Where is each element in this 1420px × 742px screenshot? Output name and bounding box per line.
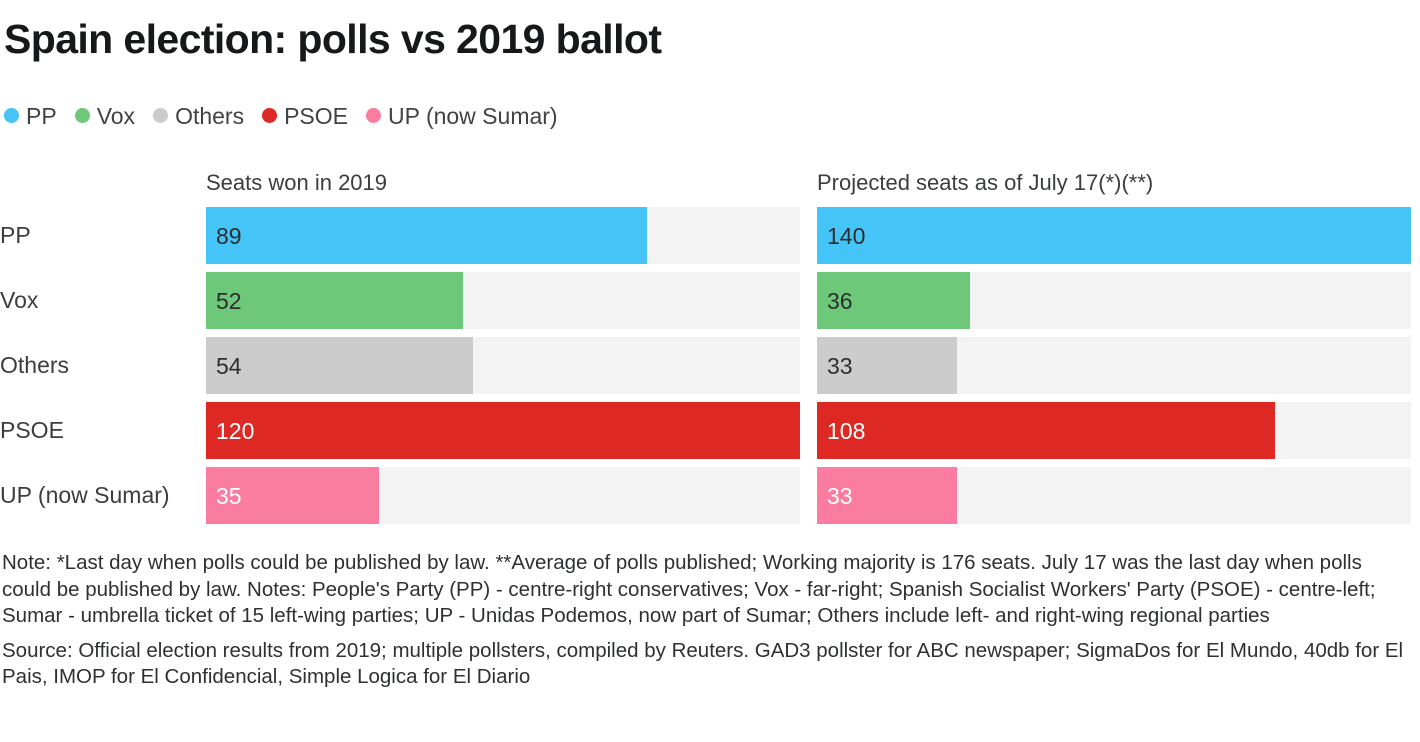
legend-item-vox[interactable]: Vox — [75, 104, 135, 127]
legend-item-psoe[interactable]: PSOE — [262, 104, 348, 127]
bar-segment[interactable]: 33 — [817, 337, 957, 394]
bar-track-right: 140 — [817, 207, 1411, 264]
bar-track-right: 33 — [817, 467, 1411, 524]
bar-track-left: 120 — [206, 402, 800, 459]
bar-segment[interactable]: 35 — [206, 467, 379, 524]
page-title: Spain election: polls vs 2019 ballot — [4, 16, 661, 63]
chart-legend: PP Vox Others PSOE UP (now Sumar) — [4, 104, 558, 127]
legend-label: PSOE — [284, 105, 348, 128]
bar-segment[interactable]: 108 — [817, 402, 1275, 459]
bar-track-right: 36 — [817, 272, 1411, 329]
bar-row: UP (now Sumar)3533 — [0, 467, 1420, 524]
bar-row: Vox5236 — [0, 272, 1420, 329]
chart-source: Source: Official election results from 2… — [2, 638, 1414, 691]
bar-segment[interactable]: 36 — [817, 272, 970, 329]
bar-track-left: 35 — [206, 467, 800, 524]
bar-chart: Seats won in 2019 Projected seats as of … — [0, 160, 1420, 530]
bar-track-left: 89 — [206, 207, 800, 264]
bar-segment[interactable]: 140 — [817, 207, 1411, 264]
panel-header-2019: Seats won in 2019 — [206, 170, 387, 196]
bar-value-label: 54 — [206, 355, 242, 378]
bar-track-right: 33 — [817, 337, 1411, 394]
bar-value-label: 140 — [817, 225, 865, 248]
category-label: PSOE — [0, 402, 196, 459]
bar-track-left: 52 — [206, 272, 800, 329]
legend-label: Vox — [97, 105, 135, 128]
legend-label: PP — [26, 105, 57, 128]
bar-track-right: 108 — [817, 402, 1411, 459]
legend-item-up[interactable]: UP (now Sumar) — [366, 104, 558, 127]
bar-segment[interactable]: 54 — [206, 337, 473, 394]
bar-value-label: 52 — [206, 290, 242, 313]
bar-row: Others5433 — [0, 337, 1420, 394]
legend-item-others[interactable]: Others — [153, 104, 244, 127]
legend-label: Others — [175, 105, 244, 128]
bar-segment[interactable]: 33 — [817, 467, 957, 524]
legend-dot-icon — [366, 108, 381, 123]
category-label: Vox — [0, 272, 196, 329]
category-label: UP (now Sumar) — [0, 467, 196, 524]
bar-rows: PP89140Vox5236Others5433PSOE120108UP (no… — [0, 207, 1420, 532]
bar-value-label: 36 — [817, 290, 853, 313]
bar-segment[interactable]: 120 — [206, 402, 800, 459]
bar-value-label: 33 — [817, 485, 853, 508]
bar-row: PP89140 — [0, 207, 1420, 264]
legend-dot-icon — [262, 108, 277, 123]
category-label: Others — [0, 337, 196, 394]
legend-label: UP (now Sumar) — [388, 105, 558, 128]
bar-row: PSOE120108 — [0, 402, 1420, 459]
bar-value-label: 108 — [817, 420, 865, 443]
legend-dot-icon — [75, 108, 90, 123]
bar-segment[interactable]: 52 — [206, 272, 463, 329]
legend-item-pp[interactable]: PP — [4, 104, 57, 127]
bar-value-label: 33 — [817, 355, 853, 378]
bar-track-left: 54 — [206, 337, 800, 394]
bar-segment[interactable]: 89 — [206, 207, 647, 264]
chart-note: Note: *Last day when polls could be publ… — [2, 550, 1414, 630]
bar-value-label: 35 — [206, 485, 242, 508]
legend-dot-icon — [4, 108, 19, 123]
bar-value-label: 120 — [206, 420, 254, 443]
category-label: PP — [0, 207, 196, 264]
legend-dot-icon — [153, 108, 168, 123]
footnotes: Note: *Last day when polls could be publ… — [2, 550, 1414, 691]
panel-header-projected: Projected seats as of July 17(*)(**) — [817, 170, 1153, 196]
bar-value-label: 89 — [206, 225, 242, 248]
